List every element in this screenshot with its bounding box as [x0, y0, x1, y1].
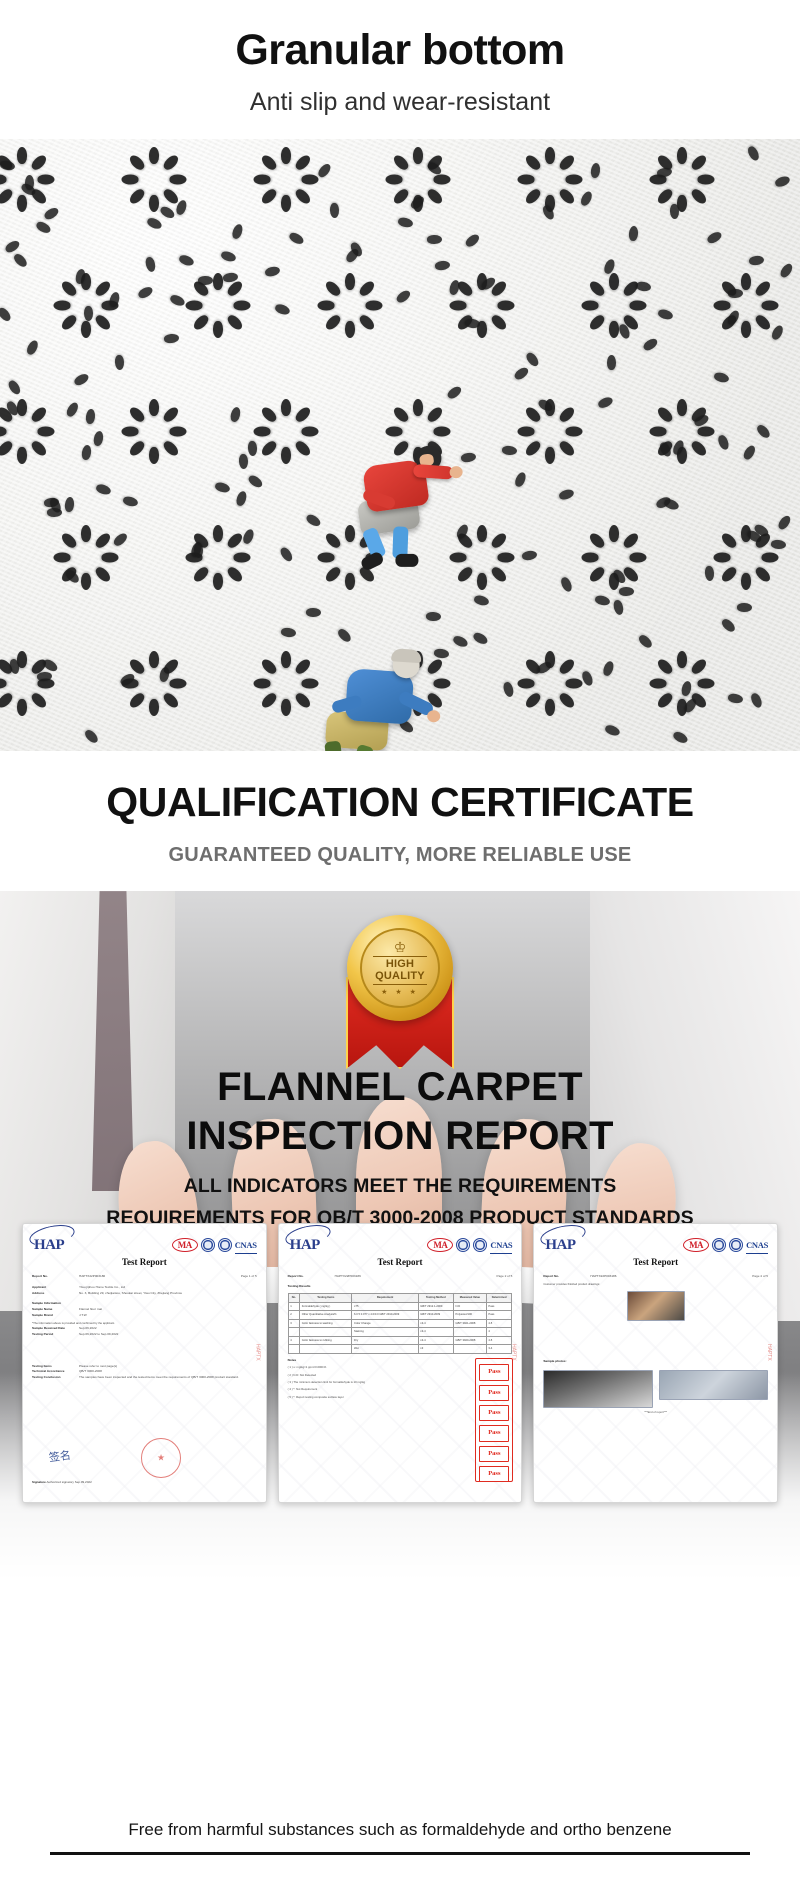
- granule-dot: [288, 230, 305, 245]
- granule-dot: [0, 439, 15, 458]
- granule-dot: [498, 301, 515, 311]
- granule-dot: [502, 681, 515, 698]
- report-no-value: HAPTX22P003186: [79, 1274, 105, 1280]
- granule-dot: [0, 427, 7, 437]
- granule-dot: [161, 691, 180, 710]
- granule-dot: [612, 599, 624, 616]
- granule-dot: [254, 175, 271, 185]
- granule-dot: [655, 657, 674, 676]
- granule-dot: [323, 565, 342, 584]
- table-column-header: Determined: [486, 1294, 512, 1303]
- report-no-label: Report No.: [543, 1274, 585, 1280]
- granule-dot: [17, 447, 27, 464]
- granule-dot: [726, 309, 741, 326]
- footer-divider: [50, 1852, 750, 1855]
- granule-dot: [230, 223, 243, 240]
- table-cell: Pass: [486, 1302, 512, 1311]
- granule-dot: [81, 321, 91, 338]
- granule-dot: [523, 405, 542, 424]
- product-photo: [0, 139, 800, 751]
- granule-dot: [38, 175, 55, 185]
- granule-dot: [281, 699, 291, 716]
- granule-dot: [38, 427, 55, 437]
- granule-dot: [108, 291, 121, 308]
- granule-dot: [198, 276, 213, 285]
- granule-dot: [489, 565, 508, 584]
- granule-dot: [213, 525, 223, 542]
- granule-dot: [717, 434, 731, 451]
- table-cell: GB/T 3920-2008: [453, 1336, 486, 1345]
- miniature-figure-blue: [294, 639, 451, 751]
- granule-dot: [281, 447, 291, 464]
- test-report-gallery: HAP MA CNAS Test Report Report No. HAPTX…: [22, 1223, 778, 1503]
- granule-dot: [281, 627, 297, 638]
- granule-dot: [127, 405, 146, 424]
- granule-dot: [557, 439, 576, 458]
- granule-dot: [93, 531, 112, 550]
- table-cell: Staining: [352, 1328, 418, 1337]
- granule-dot: [778, 262, 794, 279]
- granule-dot: [248, 440, 258, 455]
- table-body: 1Formaldehyde ( mg/kg )≤75GB/T 2912.1-20…: [288, 1302, 512, 1353]
- granule-dot: [59, 313, 78, 332]
- granule-dot: [609, 273, 619, 290]
- granule-dot: [29, 439, 48, 458]
- granule-dot: [279, 545, 295, 562]
- granule-dot: [158, 204, 175, 220]
- signature-date: Sep.09,2022: [75, 1480, 92, 1484]
- granule-dot: [54, 301, 71, 311]
- table-cell: Polyester/100: [453, 1311, 486, 1320]
- granule-dot: [755, 423, 772, 440]
- address-value: No. 3, Building 29, chuijiantou, Shoukai…: [79, 1291, 182, 1297]
- granule-dot: [29, 405, 48, 424]
- granule-dot: [655, 187, 674, 206]
- badge-line-2: QUALITY: [375, 971, 425, 983]
- granule-dot: [714, 553, 731, 563]
- granule-dot: [323, 279, 342, 298]
- granule-dot: [448, 279, 461, 296]
- granule-dot: [93, 279, 112, 298]
- granule-dot: [557, 691, 576, 710]
- table-row: Staining≥3-44: [288, 1328, 512, 1337]
- granule-dot: [225, 565, 244, 584]
- granule-dot: [594, 594, 611, 606]
- table-cell: Pass: [486, 1311, 512, 1320]
- granule-dot: [727, 693, 743, 705]
- table-cell: ≥3-4: [418, 1328, 453, 1337]
- medal-icon: ♔ HIGH QUALITY ★ ★ ★: [347, 915, 453, 1021]
- granule-dot: [698, 427, 715, 437]
- granule-dot: [7, 379, 23, 396]
- pass-stamp: Pass: [479, 1425, 509, 1441]
- banner-sub-line-1: ALL INDICATORS MEET THE REQUIREMENTS: [0, 1171, 800, 1203]
- granule-dot: [489, 531, 508, 550]
- granule-dot: [582, 301, 599, 311]
- granule-dot: [0, 679, 7, 689]
- granule-dot: [557, 405, 576, 424]
- granule-dot: [17, 147, 27, 164]
- granule-dot: [29, 153, 48, 172]
- granule-dot: [17, 399, 27, 416]
- side-watermark: HAPTX: [252, 1344, 262, 1361]
- footer-text: Free from harmful substances such as for…: [128, 1820, 671, 1840]
- granule-dot: [220, 250, 237, 263]
- granule-dot: [0, 187, 15, 206]
- certificate-title: QUALIFICATION CERTIFICATE: [0, 779, 800, 826]
- inspection-seal-icon: [729, 1238, 743, 1252]
- granule-dot: [558, 487, 575, 500]
- report-page: Page 2 of 5: [497, 1274, 513, 1280]
- granule-dot: [81, 444, 92, 460]
- granule-dot: [677, 147, 687, 164]
- red-company-seal: [141, 1438, 181, 1478]
- granule-dot: [581, 670, 595, 687]
- granule-dot: [264, 265, 281, 277]
- table-row: Wet≥33-4: [288, 1345, 512, 1354]
- granule-dot: [545, 447, 555, 464]
- granule-dot: [169, 294, 186, 308]
- granule-dot: [84, 306, 93, 321]
- granule-dot: [81, 573, 91, 590]
- granule-dot: [604, 724, 621, 738]
- granule-dot: [657, 167, 673, 179]
- table-cell: [453, 1345, 486, 1354]
- granule-dot: [698, 175, 715, 185]
- conclusion-label: Testing Conclusion: [32, 1375, 74, 1381]
- granule-dot: [413, 147, 423, 164]
- granule-dot: [254, 427, 271, 437]
- granule-dot: [145, 257, 157, 274]
- granule-dot: [452, 634, 469, 649]
- report-no-value: HAPTX22P003186: [590, 1274, 616, 1280]
- granule-dot: [655, 405, 674, 424]
- granule-dot: [601, 660, 615, 677]
- table-row: 4Color fastness to rubbingDry≥3-4GB/T 39…: [288, 1336, 512, 1345]
- accreditation-seals: MA CNAS: [683, 1237, 768, 1253]
- table-header-row: No.Testing ItemsRequirementTesting Metho…: [288, 1294, 512, 1303]
- report-page: Page 1 of 5: [241, 1274, 257, 1280]
- table-cell: Color Change: [352, 1319, 418, 1328]
- miniature-figure-red: [335, 431, 485, 598]
- granule-dot: [345, 273, 355, 290]
- granule-dot: [657, 308, 674, 321]
- granule-dot: [4, 239, 21, 255]
- granule-dot: [689, 657, 708, 676]
- granule-dot: [621, 531, 640, 550]
- granule-dot: [146, 217, 163, 232]
- granule-dot: [127, 439, 146, 458]
- granule-dot: [753, 565, 772, 584]
- granule-dot: [293, 153, 312, 172]
- table-column-header: Measured Value: [453, 1294, 486, 1303]
- granule-dot: [714, 371, 731, 384]
- table-cell: [300, 1328, 352, 1337]
- table-cell: 2: [288, 1311, 299, 1320]
- granule-dot: [566, 175, 583, 185]
- granule-dot: [137, 285, 154, 300]
- table-cell: 3: [288, 1319, 299, 1328]
- side-watermark: HAPTX: [508, 1344, 518, 1361]
- granule-dot: [512, 365, 529, 381]
- granule-dot: [395, 289, 412, 305]
- granule-dot: [607, 355, 616, 370]
- granule-dot: [357, 313, 376, 332]
- signature-role: Authorized signatory: [47, 1480, 74, 1484]
- table-cell: 4: [288, 1336, 299, 1345]
- granule-dot: [714, 301, 731, 311]
- iso-seal-icon: [201, 1238, 215, 1252]
- granule-dot: [587, 313, 606, 332]
- granule-dot: [753, 279, 772, 298]
- table-row: 3Color fastness to washingColor Change≥3…: [288, 1319, 512, 1328]
- granule-dot: [720, 617, 737, 634]
- divider: [373, 956, 427, 957]
- granule-dot: [191, 565, 210, 584]
- granule-dot: [12, 252, 29, 269]
- test-report-card-1[interactable]: HAP MA CNAS Test Report Report No. HAPTX…: [22, 1223, 267, 1503]
- granule-dot: [498, 553, 515, 563]
- granule-dot: [523, 439, 542, 458]
- test-report-card-3[interactable]: HAP MA CNAS Test Report Report No. HAPTX…: [533, 1223, 778, 1503]
- table-cell: ≥3-4: [418, 1336, 453, 1345]
- granule-dot: [637, 633, 654, 650]
- granule-dot: [518, 427, 535, 437]
- pass-stamp: Pass: [479, 1466, 509, 1482]
- granule-dot: [719, 565, 738, 584]
- granule-dot: [427, 235, 442, 244]
- table-cell: ≥3: [418, 1345, 453, 1354]
- results-table: No.Testing ItemsRequirementTesting Metho…: [288, 1293, 513, 1354]
- cnas-seal-icon: CNAS: [490, 1237, 512, 1253]
- granule-dot: [587, 279, 606, 298]
- granule-dot: [318, 301, 335, 311]
- granule-dot: [29, 691, 48, 710]
- granule-dot: [518, 175, 535, 185]
- inspection-seal-icon: [218, 1238, 232, 1252]
- granule-dot: [619, 587, 634, 596]
- table-cell: Wet: [352, 1345, 418, 1354]
- stars-icon: ★ ★ ★: [381, 988, 419, 996]
- granule-dot: [194, 542, 204, 557]
- granule-dot: [741, 573, 751, 590]
- granule-dot: [689, 439, 708, 458]
- granule-dot: [737, 603, 752, 612]
- granule-dot: [214, 481, 231, 494]
- granule-dot: [234, 301, 251, 311]
- crown-icon: ♔: [394, 940, 407, 954]
- granule-dot: [317, 162, 333, 179]
- granule-dot: [749, 691, 763, 708]
- granule-dot: [719, 531, 738, 550]
- pass-stamp: Pass: [479, 1364, 509, 1380]
- granule-dot: [523, 691, 542, 710]
- granule-dot: [65, 400, 80, 417]
- granule-dot: [650, 679, 667, 689]
- granule-dot: [293, 405, 312, 424]
- table-cell: GB/T 3921-2008: [453, 1319, 486, 1328]
- granule-dot: [42, 657, 59, 673]
- granule-dot: [522, 549, 538, 560]
- table-cell: 4-5: [486, 1319, 512, 1328]
- granule-dot: [323, 313, 342, 332]
- ma-seal-icon: MA: [172, 1238, 198, 1252]
- pass-stamp: Pass: [479, 1446, 509, 1462]
- badge-line-1: HIGH: [386, 959, 414, 971]
- granule-dot: [0, 691, 15, 710]
- banner-title-line-1: FLANNEL CARPET: [0, 1063, 800, 1112]
- granule-dot: [524, 350, 540, 367]
- granule-dot: [93, 565, 112, 584]
- granule-dot: [597, 395, 614, 409]
- granule-dot: [357, 279, 376, 298]
- granule-dot: [274, 303, 291, 317]
- granule-dot: [149, 447, 159, 464]
- granule-dot: [741, 321, 751, 338]
- report-no-label: Report No.: [32, 1274, 74, 1280]
- ma-seal-icon: MA: [427, 1238, 453, 1252]
- granule-dot: [587, 565, 606, 584]
- granule-dot: [115, 355, 125, 370]
- granule-dot: [557, 187, 576, 206]
- granule-dot: [323, 531, 342, 550]
- granule-dot: [318, 553, 335, 563]
- granule-dot: [25, 175, 34, 190]
- iso-seal-icon: [456, 1238, 470, 1252]
- granule-dot: [762, 301, 779, 311]
- report-page: Page 4 of 5: [752, 1274, 768, 1280]
- granule-dot: [170, 427, 187, 437]
- granule-dot: [662, 497, 679, 511]
- granule-dot: [391, 405, 410, 424]
- page-footer: Free from harmful substances such as for…: [0, 1808, 800, 1886]
- granule-dot: [281, 399, 291, 416]
- table-cell: 6.0 5 0.077 ≤ 4.0/0.0 GB/T 2910-2009: [352, 1311, 418, 1320]
- granule-dot: [636, 280, 652, 291]
- sample-brand-label: Sample Brand: [32, 1313, 74, 1319]
- table-cell: [288, 1345, 299, 1354]
- granule-dot: [149, 147, 159, 164]
- granule-dot: [741, 444, 757, 461]
- hap-logo: HAP: [543, 1231, 577, 1260]
- granule-dot: [641, 337, 658, 353]
- granule-dot: [59, 531, 78, 550]
- granule-dot: [704, 566, 714, 582]
- end-of-report-mark: ***End of report***: [543, 1410, 768, 1415]
- granule-dot: [85, 409, 96, 425]
- granule-dot: [450, 301, 467, 311]
- period-value: Sep.06,2022 to Sep.09,2022: [79, 1332, 118, 1338]
- granule-dot: [17, 195, 27, 212]
- granule-dot: [230, 406, 242, 423]
- granule-dot: [689, 187, 708, 206]
- iso-seal-icon: [712, 1238, 726, 1252]
- granule-dot: [0, 306, 13, 323]
- granule-dot: [95, 483, 112, 496]
- granule-dot: [54, 553, 71, 563]
- granule-dot: [434, 260, 450, 271]
- granule-dot: [42, 206, 59, 222]
- granule-dot: [170, 175, 187, 185]
- granule-dot: [746, 145, 761, 162]
- sample-brand-value: J.T.W: [79, 1313, 87, 1319]
- side-watermark: HAPTX: [764, 1344, 774, 1361]
- granule-dot: [161, 153, 180, 172]
- granule-dot: [259, 187, 278, 206]
- test-report-card-2[interactable]: HAP MA CNAS Test Report Report No. HAPTX…: [278, 1223, 523, 1503]
- granule-dot: [655, 691, 674, 710]
- inspection-report-banner: ♔ HIGH QUALITY ★ ★ ★ FLANNEL CARPET INSP…: [0, 891, 800, 1581]
- granule-dot: [122, 427, 139, 437]
- pass-stamp: Pass: [479, 1405, 509, 1421]
- granule-dot: [489, 313, 508, 332]
- product-header: Granular bottom Anti slip and wear-resis…: [0, 0, 800, 139]
- granule-dot: [127, 187, 146, 206]
- granule-dot: [472, 631, 489, 646]
- granule-dot: [446, 384, 463, 400]
- table-cell: N.D: [453, 1302, 486, 1311]
- granule-dot: [609, 321, 619, 338]
- table-cell: ≤75: [352, 1302, 418, 1311]
- granule-dot: [112, 531, 129, 548]
- granule-dot: [158, 667, 170, 684]
- hap-logo: HAP: [32, 1231, 66, 1260]
- sample-photo-thumb-2: [543, 1370, 652, 1408]
- report-number-row: Report No. HAPTX22P003186 Page 2 of 5: [288, 1274, 513, 1280]
- granule-dot: [247, 474, 264, 490]
- cnas-seal-icon: CNAS: [746, 1237, 768, 1253]
- granule-dot: [391, 187, 410, 206]
- granule-dot: [397, 216, 414, 228]
- granule-dot: [579, 190, 594, 207]
- granule-dot: [161, 439, 180, 458]
- sample-brand-row: Sample Brand J.T.W: [32, 1313, 257, 1319]
- granule-dot: [281, 195, 291, 212]
- high-quality-badge: ♔ HIGH QUALITY ★ ★ ★: [340, 915, 460, 1075]
- table-cell: 4: [486, 1328, 512, 1337]
- granule-dot: [650, 427, 667, 437]
- pass-stamp-column: PassPassPassPassPassPass: [479, 1364, 509, 1482]
- granule-dot: [464, 232, 481, 248]
- granule-dot: [239, 453, 249, 468]
- granule-dot: [259, 405, 278, 424]
- granule-dot: [741, 273, 751, 290]
- page-subtitle: Anti slip and wear-resistant: [0, 88, 800, 117]
- granule-dot: [590, 163, 601, 179]
- granule-dot: [566, 679, 583, 689]
- signature-mark: 签名: [48, 1446, 72, 1469]
- granule-dot: [281, 651, 291, 668]
- table-row: 2Other Quantitative Analysis%6.0 5 0.077…: [288, 1311, 512, 1320]
- granule-dot: [523, 153, 542, 172]
- granule-dot: [170, 679, 187, 689]
- granule-dot: [149, 399, 159, 416]
- granule-dot: [366, 301, 383, 311]
- table-cell: Color fastness to washing: [300, 1319, 352, 1328]
- table-cell: [300, 1345, 352, 1354]
- granule-dot: [213, 273, 223, 290]
- granule-dot: [557, 657, 576, 676]
- granule-dot: [64, 568, 81, 585]
- granule-dot: [609, 525, 619, 542]
- granule-dot: [630, 301, 647, 311]
- granule-dot: [25, 339, 40, 356]
- granule-dot: [413, 399, 423, 416]
- granule-dot: [213, 573, 223, 590]
- granule-dot: [677, 651, 687, 668]
- granule-dot: [698, 679, 715, 689]
- granule-dot: [259, 153, 278, 172]
